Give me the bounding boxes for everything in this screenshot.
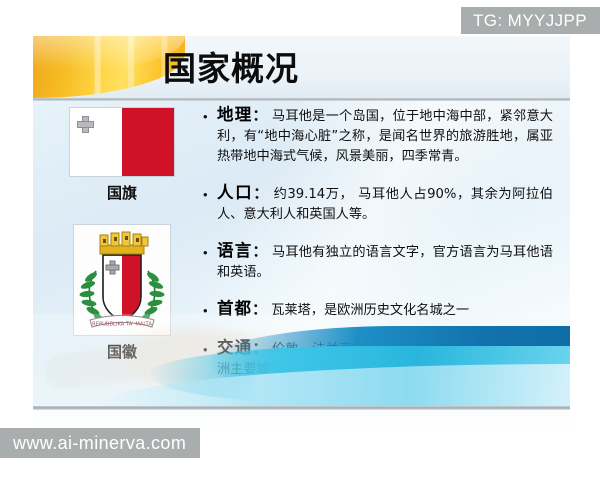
bullet-separator: ： <box>252 242 267 260</box>
handshake-arm-shape <box>44 331 257 390</box>
watermark-bottom-left: www.ai-minerva.com <box>0 428 200 458</box>
list-item: • 语言： 马耳他有独立的语言文字，官方语言为马耳他语和英语。 <box>203 238 553 283</box>
presentation-slide: 国家概况 国旗 <box>33 36 570 436</box>
bullet-marker-icon: • <box>203 102 217 167</box>
list-item: • 人口： 约39.14万， 马耳他人占90%，其余为阿拉伯人、意大利人和英国人… <box>203 180 553 225</box>
bullet-text: 马耳他有独立的语言文字，官方语言为马耳他语和英语。 <box>217 245 553 280</box>
bullet-content: 人口： 约39.14万， 马耳他人占90%，其余为阿拉伯人、意大利人和英国人等。 <box>217 180 553 225</box>
watermark-top-text: TG: MYYJJPP <box>473 11 587 31</box>
list-item: • 地理： 马耳他是一个岛国，位于地中海中部，紧邻意大利，有“地中海心脏”之称，… <box>203 102 553 167</box>
watermark-top-right: TG: MYYJJPP <box>461 7 600 34</box>
handshake-photo-decoration <box>33 314 333 406</box>
bullet-label: 人口 <box>217 183 253 202</box>
bullet-label: 地理 <box>217 105 252 124</box>
malta-flag-icon <box>70 108 174 176</box>
flag-white-band <box>70 108 122 176</box>
bullet-marker-icon: • <box>203 180 217 225</box>
bullet-label: 语言 <box>217 241 252 260</box>
bullet-text: 马耳他是一个岛国，位于地中海中部，紧邻意大利，有“地中海心脏”之称，是闻名世界的… <box>217 109 553 164</box>
george-cross-icon <box>77 116 94 133</box>
bullet-marker-icon: • <box>203 238 217 283</box>
bullet-content: 语言： 马耳他有独立的语言文字，官方语言为马耳他语和英语。 <box>217 238 553 283</box>
watermark-bottom-text: www.ai-minerva.com <box>13 433 186 454</box>
header-divider-rule <box>33 98 570 101</box>
flag-figure: 国旗 <box>47 108 197 203</box>
bullet-separator: ： <box>252 106 267 124</box>
flag-red-band <box>122 108 174 176</box>
bullet-content: 地理： 马耳他是一个岛国，位于地中海中部，紧邻意大利，有“地中海心脏”之称，是闻… <box>217 102 553 167</box>
bullet-separator: ： <box>253 184 269 202</box>
flag-image-wrap <box>47 108 197 176</box>
page-title: 国家概况 <box>163 42 299 90</box>
flag-caption: 国旗 <box>47 182 197 203</box>
